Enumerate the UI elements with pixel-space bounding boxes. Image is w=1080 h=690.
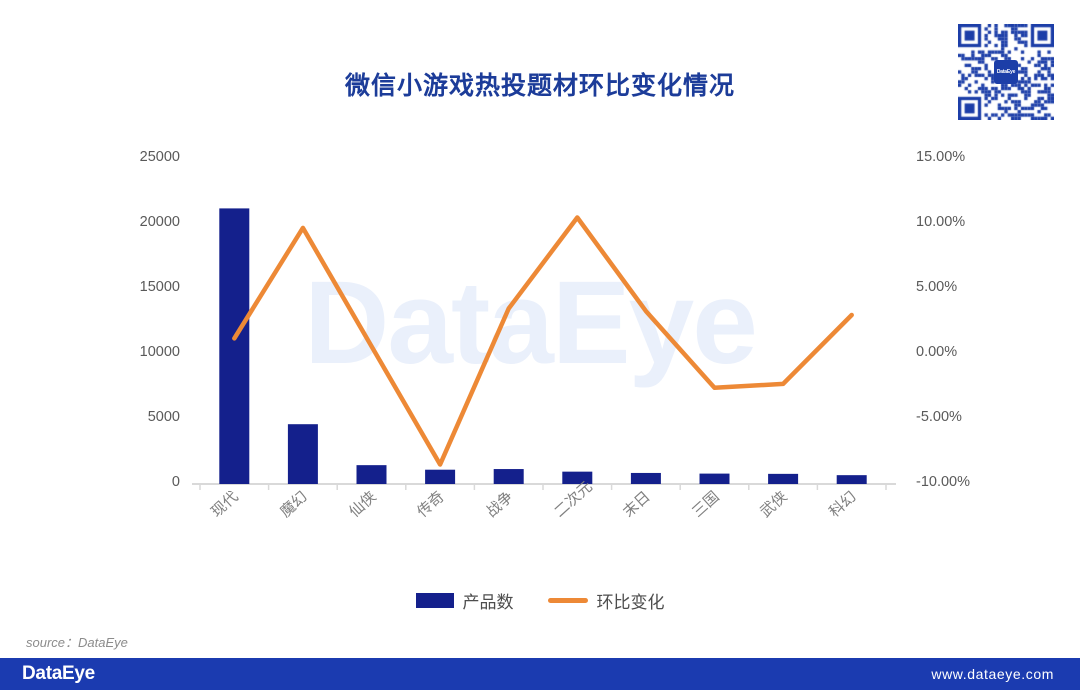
legend-bar-swatch: [416, 593, 454, 608]
left-axis-tick: 10000: [110, 344, 180, 360]
right-axis-tick: 15.00%: [916, 149, 996, 165]
chart-page: DataEye 微信小游戏热投题材环比变化情况 DataEye 05000100…: [0, 0, 1080, 690]
legend-item-line[interactable]: 环比变化: [548, 588, 665, 613]
bar-仙侠: [357, 465, 387, 484]
legend-line-swatch: [548, 598, 588, 603]
legend-item-bars[interactable]: 产品数: [416, 588, 514, 613]
left-axis-tick: 5000: [110, 409, 180, 425]
bar-传奇: [425, 470, 455, 484]
chart-legend: 产品数 环比变化: [0, 588, 1080, 613]
bar-末日: [631, 473, 661, 484]
left-axis-tick: 0: [110, 474, 180, 490]
line-series-path: [234, 218, 851, 465]
bar-科幻: [837, 475, 867, 484]
bar-武侠: [768, 474, 798, 484]
right-axis-tick: 5.00%: [916, 279, 996, 295]
bar-三国: [700, 474, 730, 484]
left-axis-tick: 25000: [110, 149, 180, 165]
right-axis-tick: 0.00%: [916, 344, 996, 360]
left-axis-tick: 15000: [110, 279, 180, 295]
bar-魔幻: [288, 424, 318, 484]
legend-label-line: 环比变化: [597, 588, 665, 613]
source-note: source：DataEye: [26, 632, 128, 651]
bar-战争: [494, 469, 524, 484]
chart-canvas: DataEye 0500010000150002000025000 -10.00…: [0, 0, 1080, 690]
right-axis-tick: -5.00%: [916, 409, 996, 425]
bar-现代: [219, 208, 249, 484]
right-axis-tick: -10.00%: [916, 474, 996, 490]
footer-logo: DataEye: [22, 663, 95, 685]
right-axis-tick: 10.00%: [916, 214, 996, 230]
left-axis-tick: 20000: [110, 214, 180, 230]
legend-label-bars: 产品数: [463, 588, 514, 613]
footer-url[interactable]: www.dataeye.com: [931, 666, 1054, 682]
footer-bar: DataEye www.dataeye.com: [0, 658, 1080, 690]
